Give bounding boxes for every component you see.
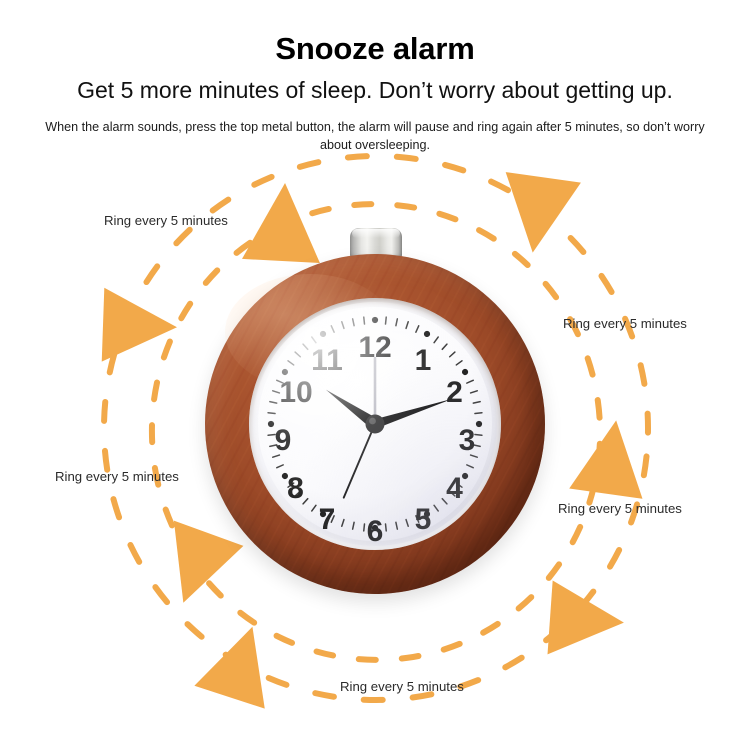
page-title: Snooze alarm [0, 0, 750, 66]
second-hand [344, 424, 375, 498]
minute-hand [376, 394, 455, 427]
numeral-8: 8 [287, 472, 304, 505]
ring-label-bottom: Ring every 5 minutes [340, 680, 464, 693]
alarm-clock: 12 1 2 3 4 5 6 7 8 9 10 11 [197, 228, 553, 600]
numeral-3: 3 [459, 424, 476, 457]
triangle-bottom-right [548, 581, 627, 660]
ring-label-right-lower: Ring every 5 minutes [558, 502, 682, 515]
ring-label-right-upper: Ring every 5 minutes [563, 317, 687, 330]
numeral-7: 7 [319, 503, 336, 536]
numeral-4: 4 [446, 472, 463, 505]
triangle-left-upper [102, 288, 179, 365]
numeral-6: 6 [367, 515, 384, 548]
numeral-9: 9 [275, 424, 292, 457]
numeral-2: 2 [446, 376, 463, 409]
ring-label-top-left: Ring every 5 minutes [104, 214, 228, 227]
triangle-right-lower [569, 415, 653, 499]
clock-face-markings: 12 1 2 3 4 5 6 7 8 9 10 11 [249, 298, 501, 550]
ring-label-left: Ring every 5 minutes [55, 470, 179, 483]
numeral-11: 11 [311, 344, 343, 377]
hands-center-cap [366, 415, 385, 434]
description-text: When the alarm sounds, press the top met… [45, 104, 705, 155]
product-feature-image: Snooze alarm Get 5 more minutes of sleep… [0, 0, 750, 750]
header: Snooze alarm Get 5 more minutes of sleep… [0, 0, 750, 154]
page-subtitle: Get 5 more minutes of sleep. Don’t worry… [0, 66, 750, 103]
triangle-bottom-left [194, 615, 287, 708]
numeral-5: 5 [415, 503, 432, 536]
numeral-1: 1 [415, 344, 432, 377]
numeral-10: 10 [279, 376, 312, 409]
